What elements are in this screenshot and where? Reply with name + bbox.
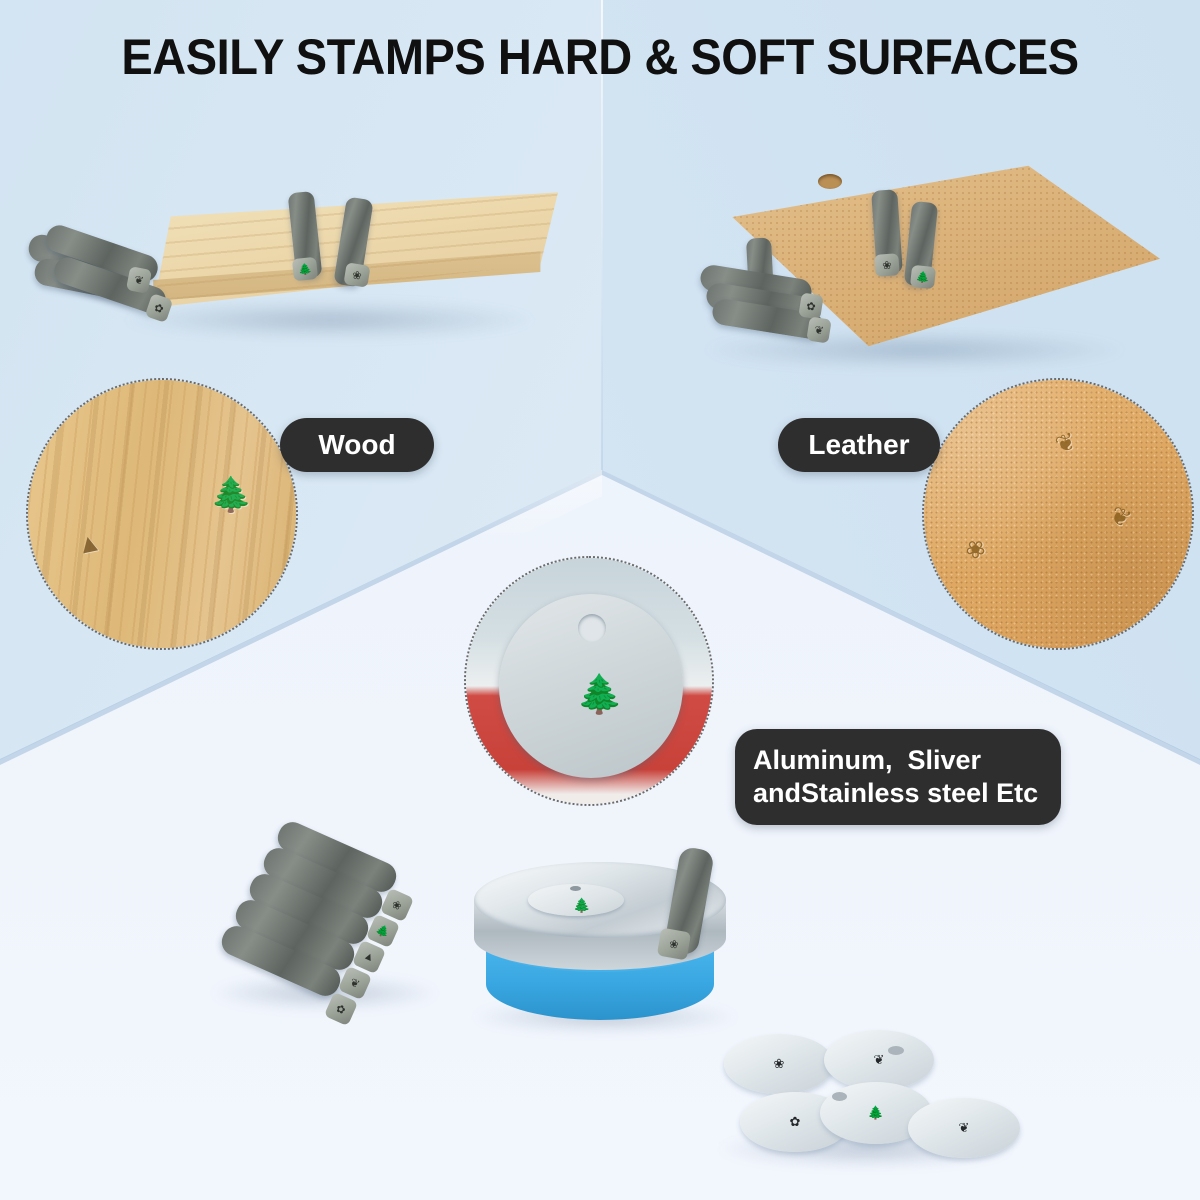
tree-icon: 🌲 <box>576 676 623 714</box>
leaf-icon: ❦ <box>813 323 824 337</box>
fern-icon: ❀ <box>668 937 679 951</box>
aluminum-blank-hole <box>570 886 581 891</box>
wood-board-shadow <box>120 300 540 340</box>
badge-wood-label: Wood <box>318 428 395 462</box>
leather-punch-hole <box>818 174 842 189</box>
branch-icon: ✿ <box>805 299 816 313</box>
metal-tag-5: ❦ <box>908 1098 1020 1158</box>
page-title: EASILY STAMPS HARD & SOFT SURFACES <box>36 28 1164 86</box>
mountain-icon: ▲ <box>362 949 377 964</box>
badge-metal-line-1: Aluminum, Sliver <box>753 744 981 777</box>
tree-icon: 🌲 <box>297 262 312 276</box>
leather-grain-overlay <box>924 380 1192 648</box>
badge-wood[interactable]: Wood <box>280 418 434 472</box>
leaf-icon: ❦ <box>874 1052 885 1068</box>
product-infographic: EASILY STAMPS HARD & SOFT SURFACES 🌲 ❀ ❦… <box>0 0 1200 1200</box>
leaf-icon: ❦ <box>133 273 145 288</box>
leather-punch-face-2: 🌲 <box>910 265 936 289</box>
leaf-icon: ❦ <box>348 975 362 991</box>
tree-icon: 🌲 <box>868 1105 884 1121</box>
wood-detail-inset: ▲ 🌲 <box>26 378 298 650</box>
badge-leather[interactable]: Leather <box>778 418 940 472</box>
bench-block-punch-face: ❀ <box>657 928 691 961</box>
leaf-icon: ❦ <box>959 1120 970 1136</box>
wood-texture <box>28 380 296 648</box>
branch-icon: ✿ <box>790 1114 801 1130</box>
branch-icon: ✿ <box>153 300 166 315</box>
wood-punch-face-2: ❀ <box>343 262 370 287</box>
tree-icon: 🌲 <box>573 898 590 912</box>
badge-metal[interactable]: Aluminum, Sliver andStainless steel Etc <box>735 729 1061 825</box>
metal-tag-2-hole <box>888 1046 904 1055</box>
tree-icon: 🌲 <box>210 478 252 512</box>
metal-tag-4-hole <box>832 1092 847 1101</box>
wood-punch-face-1: 🌲 <box>292 257 318 281</box>
fern-icon: ❀ <box>390 897 404 913</box>
badge-metal-line-2: andStainless steel Etc <box>753 777 1038 810</box>
tree-icon: 🌲 <box>374 922 392 939</box>
metal-tag-1: ❀ <box>724 1034 834 1094</box>
leather-punch-loose-face-1: ✿ <box>798 292 823 319</box>
tree-icon: 🌲 <box>915 270 930 284</box>
aluminum-tag-closeup-hole <box>578 614 606 642</box>
metal-tag-2: ❦ <box>824 1030 934 1090</box>
leather-detail-inset: ❦ ❦ ❀ <box>922 378 1194 650</box>
leather-punch-loose-face-2: ❦ <box>806 316 831 343</box>
mountain-icon: ▲ <box>74 528 105 559</box>
branch-icon: ✿ <box>334 1001 348 1017</box>
leather-slab-shadow <box>700 330 1130 370</box>
leather-punch-face-1: ❀ <box>874 253 899 277</box>
fern-icon: ❀ <box>774 1056 785 1072</box>
badge-leather-label: Leather <box>808 428 909 462</box>
metal-detail-inset: 🌲 <box>464 556 714 806</box>
fern-icon: ❀ <box>351 268 362 282</box>
fern-icon: ❀ <box>882 258 892 272</box>
